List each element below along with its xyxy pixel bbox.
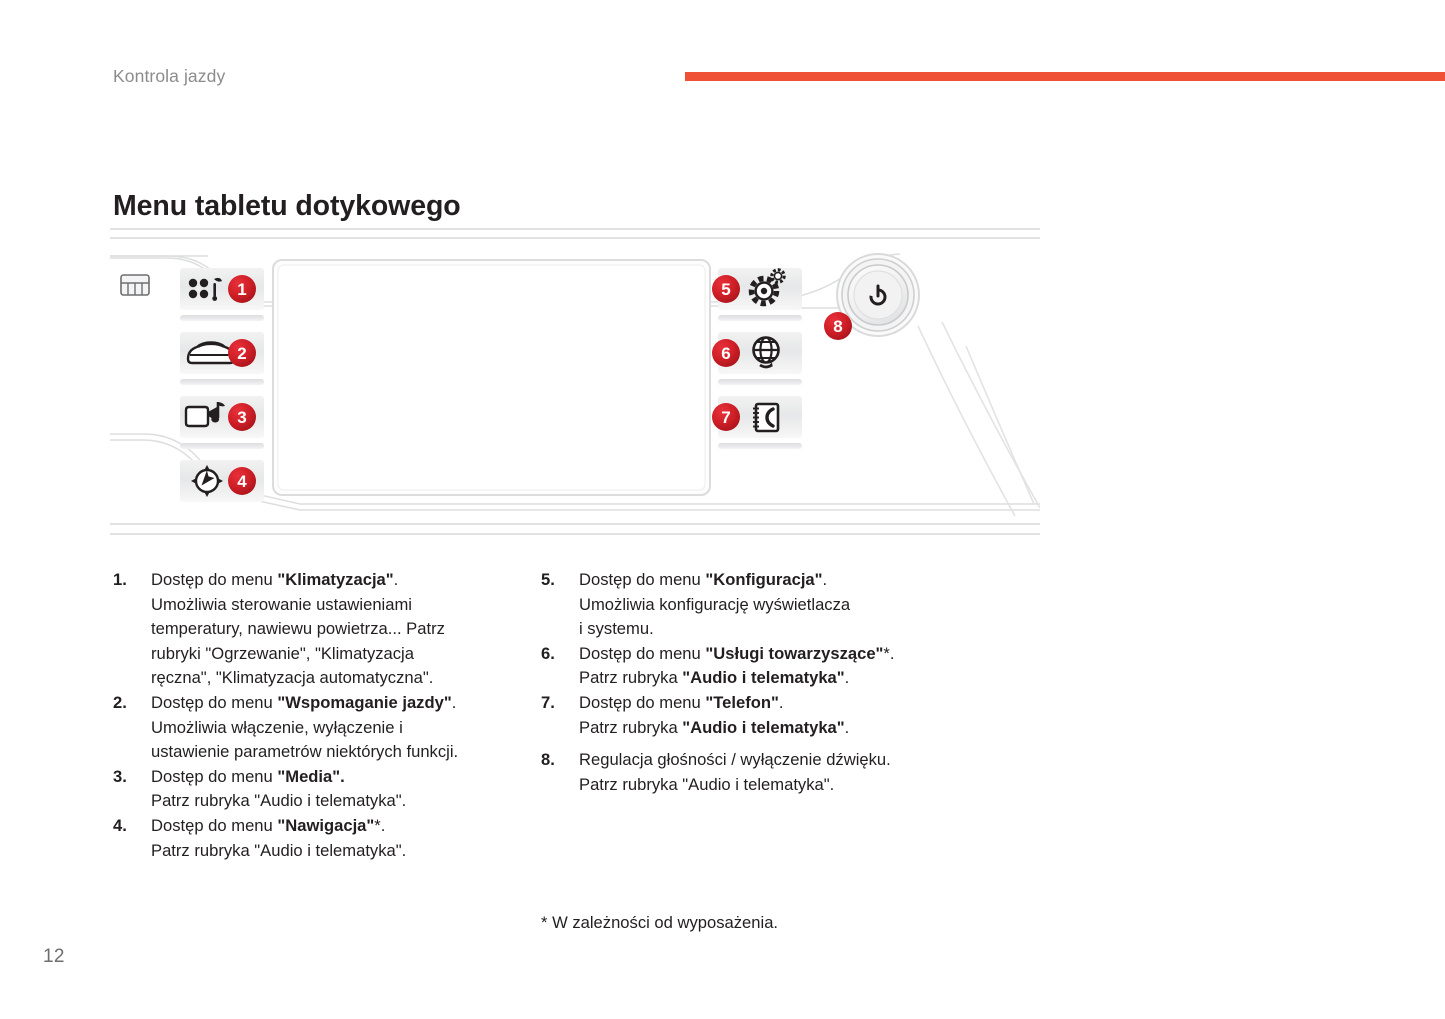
- page-number: 12: [43, 946, 65, 968]
- callout-badge-7-label: 7: [721, 408, 730, 427]
- list-item-body: Dostęp do menu "Klimatyzacja".Umożliwia …: [151, 568, 513, 691]
- list-item-number: 3.: [113, 765, 127, 790]
- air-vent-icon: [121, 275, 149, 295]
- list-item: 1. Dostęp do menu "Klimatyzacja".Umożliw…: [113, 568, 513, 691]
- callout-badge-8-label: 8: [833, 317, 842, 336]
- page-title: Menu tabletu dotykowego: [113, 190, 461, 223]
- list-item-body: Dostęp do menu "Telefon".Patrz rubryka "…: [579, 691, 951, 740]
- list-item-number: 7.: [541, 691, 555, 716]
- list-item-number: 1.: [113, 568, 127, 593]
- list-item-number: 6.: [541, 642, 555, 667]
- footnote: * W zależności od wyposażenia.: [541, 911, 778, 935]
- list-item: 8. Regulacja głośności / wyłączenie dźwi…: [541, 748, 951, 797]
- list-item: 2. Dostęp do menu "Wspomaganie jazdy".Um…: [113, 691, 513, 765]
- touchscreen-inner-bezel: [278, 265, 705, 490]
- callout-badge-3-label: 3: [237, 408, 246, 427]
- list-item-body: Dostęp do menu "Wspomaganie jazdy".Umożl…: [151, 691, 513, 765]
- phone-book-icon: [753, 404, 778, 431]
- header-rule: [685, 72, 1445, 81]
- list-item: 4. Dostęp do menu "Nawigacja"*.Patrz rub…: [113, 814, 513, 863]
- list-item: 3. Dostęp do menu "Media".Patrz rubryka …: [113, 765, 513, 814]
- list-item-number: 2.: [113, 691, 127, 716]
- list-item-body: Dostęp do menu "Nawigacja"*.Patrz rubryk…: [151, 814, 513, 863]
- list-item: 5. Dostęp do menu "Konfiguracja".Umożliw…: [541, 568, 951, 642]
- list-item-number: 4.: [113, 814, 127, 839]
- callout-badge-6-label: 6: [721, 344, 730, 363]
- list-item-body: Regulacja głośności / wyłączenie dźwięku…: [579, 748, 951, 797]
- description-list-right: 5. Dostęp do menu "Konfiguracja".Umożliw…: [541, 568, 951, 797]
- list-item-body: Dostęp do menu "Media".Patrz rubryka "Au…: [151, 765, 513, 814]
- list-item: 7. Dostęp do menu "Telefon".Patrz rubryk…: [541, 691, 951, 740]
- list-item-number: 5.: [541, 568, 555, 593]
- dashboard-illustration: 1 2 3: [110, 226, 1040, 538]
- button-slot-1: [180, 315, 264, 321]
- callout-badge-4-label: 4: [237, 472, 247, 491]
- console-sweep-lines: [918, 322, 1040, 516]
- chapter-title: Kontrola jazdy: [113, 66, 225, 87]
- list-item: 6. Dostęp do menu "Usługi towarzyszące"*…: [541, 642, 951, 691]
- description-list-left: 1. Dostęp do menu "Klimatyzacja".Umożliw…: [113, 568, 513, 863]
- touchscreen-dashboard-diagram: 1 2 3: [110, 226, 1040, 538]
- list-item-body: Dostęp do menu "Konfiguracja".Umożliwia …: [579, 568, 951, 642]
- button-slot-2: [180, 379, 264, 385]
- callout-badge-5-label: 5: [721, 280, 730, 299]
- button-slot-5: [718, 315, 802, 321]
- button-slot-3: [180, 443, 264, 449]
- page-header: Kontrola jazdy: [0, 0, 1445, 100]
- button-slot-6: [718, 379, 802, 385]
- list-item-body: Dostęp do menu "Usługi towarzyszące"*.Pa…: [579, 642, 951, 691]
- callout-badge-1-label: 1: [237, 280, 246, 299]
- callout-badge-2-label: 2: [237, 344, 246, 363]
- button-slot-7: [718, 443, 802, 449]
- list-item-number: 8.: [541, 748, 555, 773]
